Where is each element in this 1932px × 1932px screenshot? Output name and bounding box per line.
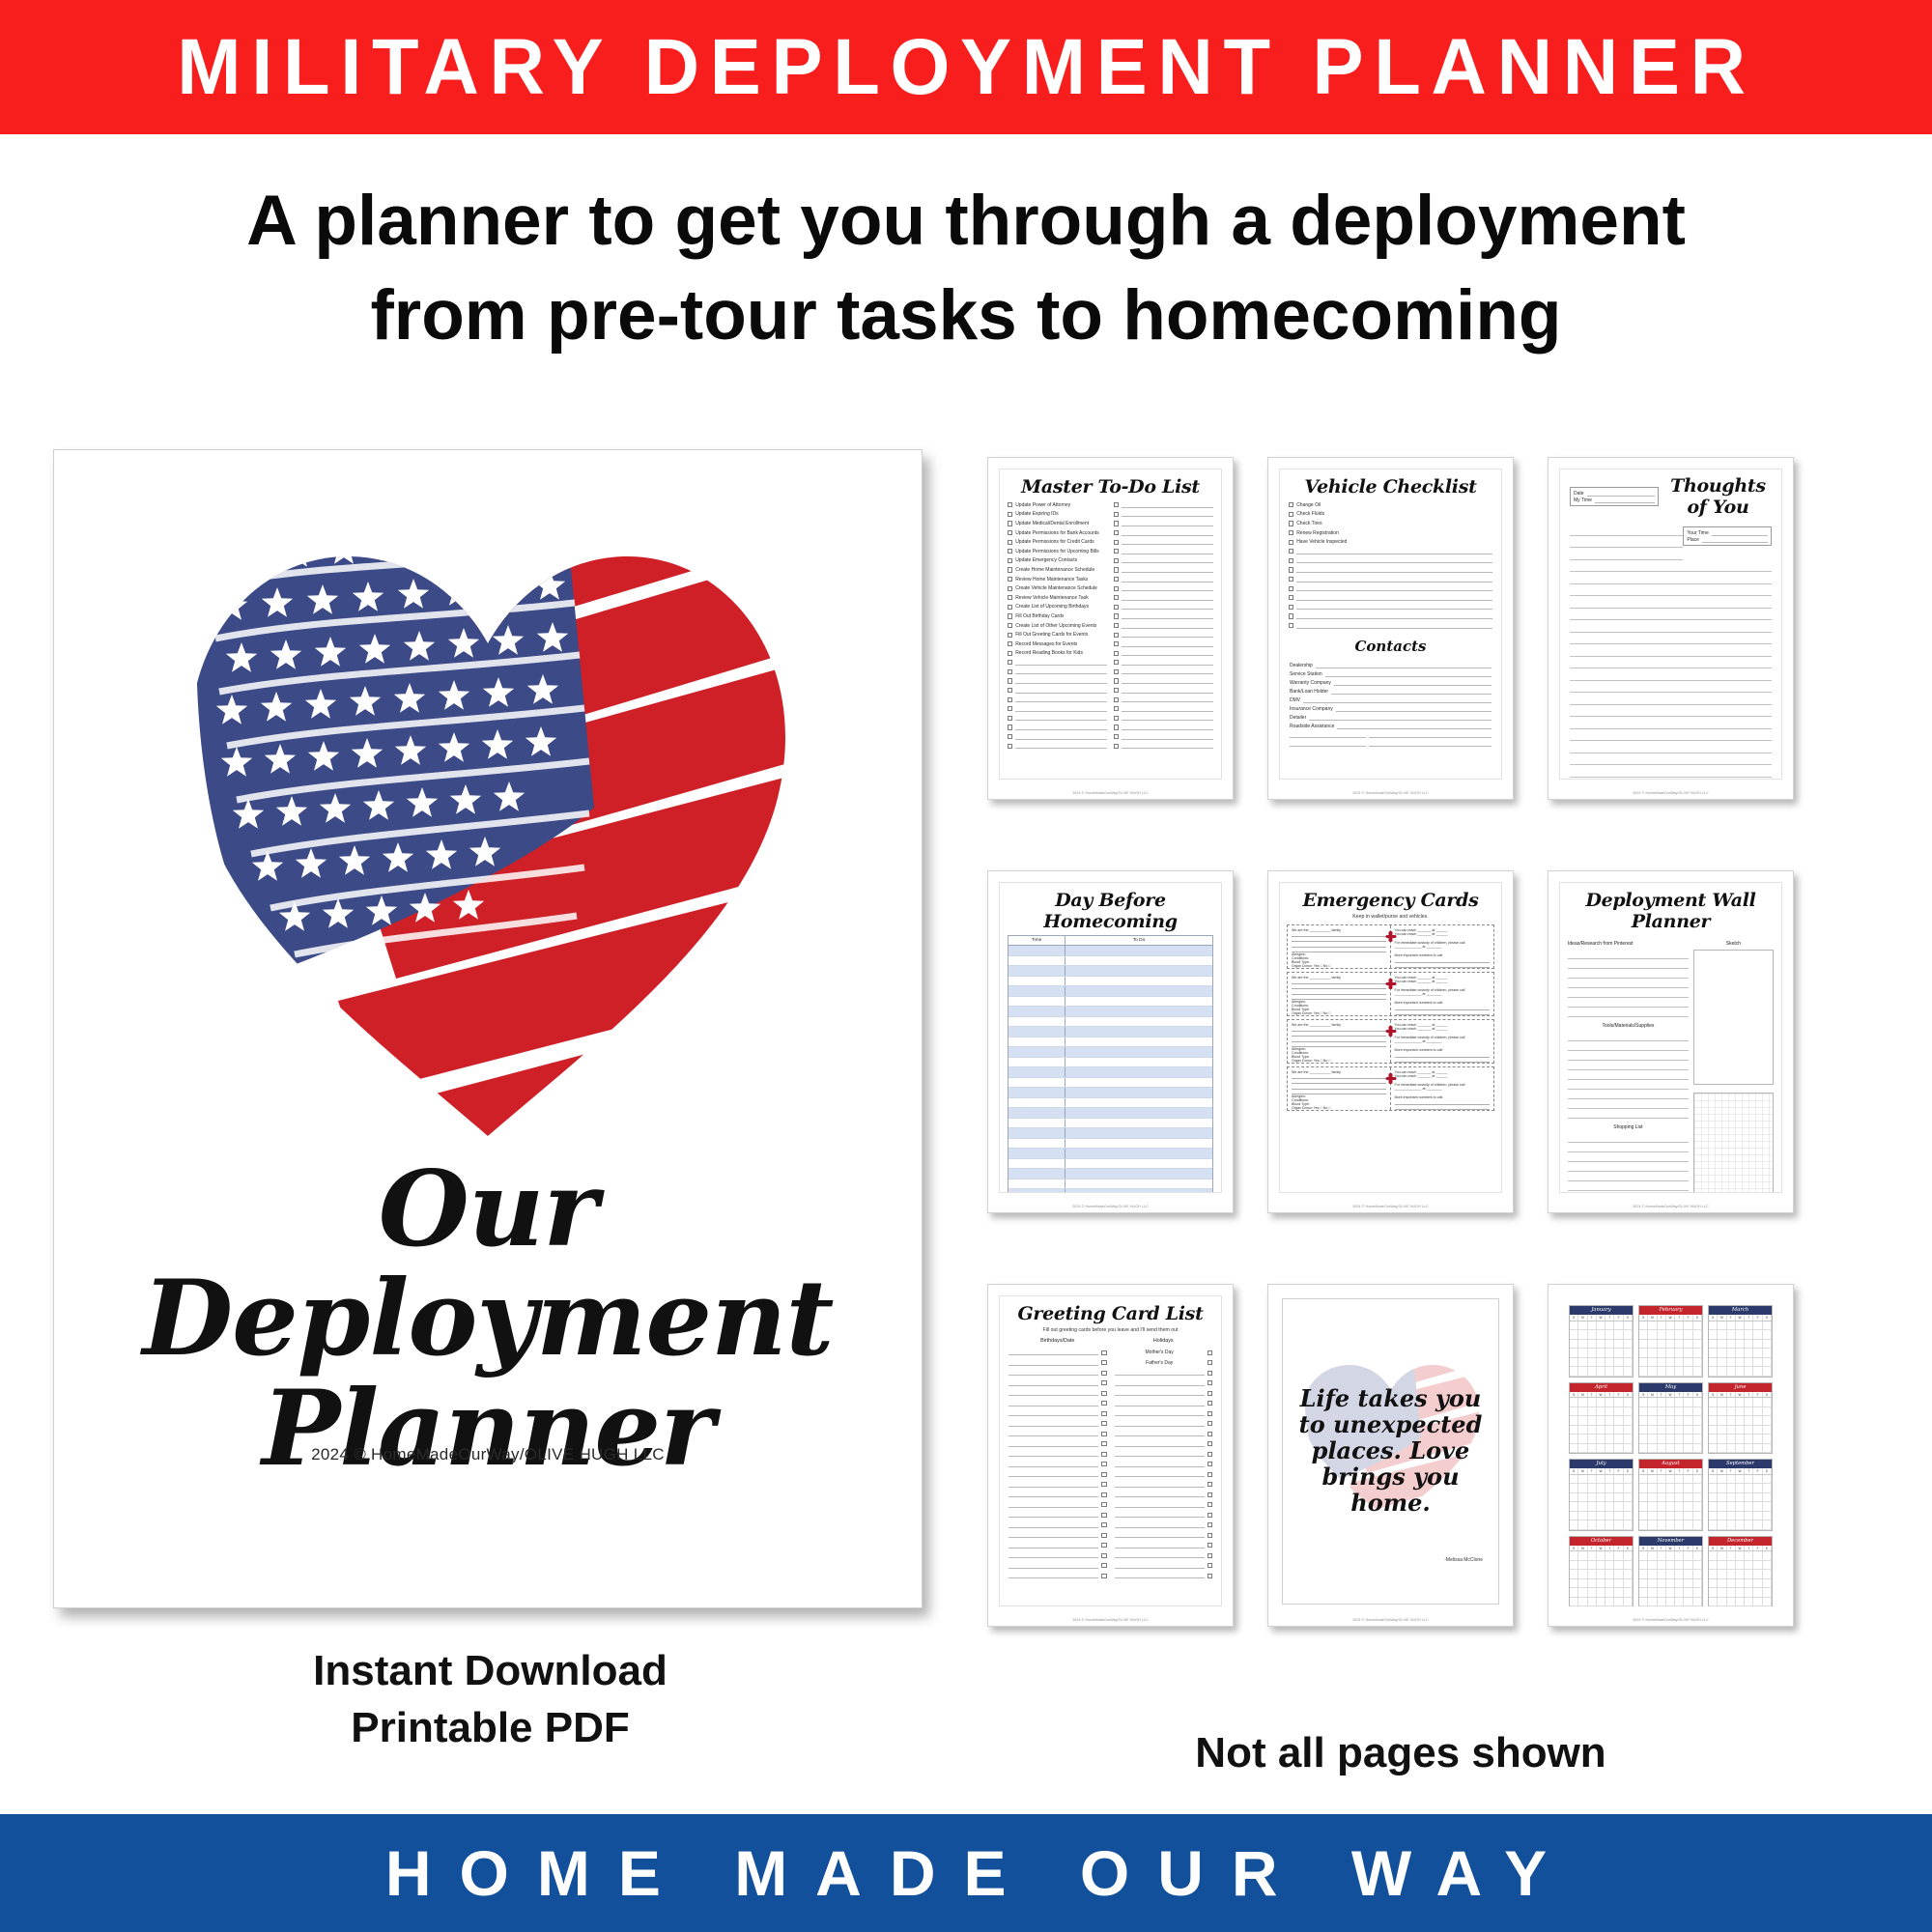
calendar-day-cell[interactable]	[1675, 1367, 1684, 1376]
checkbox[interactable]	[1289, 613, 1293, 618]
calendar-day-cell[interactable]	[1693, 1493, 1702, 1502]
checklist-row[interactable]: Create List of Upcoming Birthdays	[1008, 603, 1107, 612]
calendar-day-cell[interactable]	[1597, 1512, 1605, 1520]
calendar-day-cell[interactable]	[1639, 1426, 1648, 1435]
checkbox[interactable]	[1008, 623, 1012, 628]
calendar-day-cell[interactable]	[1693, 1475, 1702, 1484]
contact-input-line[interactable]	[1309, 715, 1492, 721]
checklist-row[interactable]	[1289, 556, 1492, 566]
calendar-day-cell[interactable]	[1718, 1407, 1726, 1416]
cell-time[interactable]	[1009, 1098, 1065, 1108]
greeting-row[interactable]	[1009, 1500, 1107, 1511]
calendar-day-cell[interactable]	[1684, 1551, 1692, 1560]
blank-line[interactable]	[1009, 1532, 1098, 1538]
thumbnail-thoughts-of-you[interactable]: Date My Time Thoughts of You Your Time P…	[1548, 457, 1794, 800]
calendar-day-cell[interactable]	[1736, 1579, 1745, 1588]
cell-to-do[interactable]	[1065, 1169, 1212, 1179]
checkbox[interactable]	[1114, 595, 1119, 600]
cell-time[interactable]	[1009, 1037, 1065, 1047]
writing-line[interactable]	[1570, 681, 1772, 694]
checkbox[interactable]	[1008, 678, 1012, 683]
blank-line[interactable]	[1009, 1573, 1098, 1578]
greeting-row[interactable]	[1009, 1490, 1107, 1500]
calendar-day-cell[interactable]	[1639, 1484, 1648, 1492]
cell-to-do[interactable]	[1065, 1139, 1212, 1149]
blank-line[interactable]	[1115, 1543, 1205, 1548]
checkbox[interactable]	[1207, 1441, 1212, 1446]
cell-to-do[interactable]	[1065, 956, 1212, 966]
checkbox[interactable]	[1114, 633, 1119, 638]
contact-input-line[interactable]	[1334, 680, 1492, 686]
calendar-day-cell[interactable]	[1588, 1520, 1597, 1529]
calendar-day-cell[interactable]	[1736, 1349, 1745, 1357]
blank-line[interactable]	[1009, 1502, 1098, 1508]
calendar-day-cell[interactable]	[1736, 1570, 1745, 1578]
calendar-day-cell[interactable]	[1570, 1493, 1578, 1502]
calendar-day-cell[interactable]	[1709, 1367, 1718, 1376]
checklist-row[interactable]	[1114, 621, 1213, 631]
blank-line[interactable]	[1009, 1441, 1098, 1447]
calendar-day-cell[interactable]	[1763, 1520, 1772, 1529]
calendar-day-cell[interactable]	[1578, 1416, 1587, 1425]
calendar-day-cell[interactable]	[1658, 1502, 1666, 1511]
checkbox[interactable]	[1207, 1411, 1212, 1416]
calendar-day-cell[interactable]	[1605, 1598, 1614, 1606]
calendar-day-cell[interactable]	[1745, 1444, 1753, 1453]
calendar-day-cell[interactable]	[1675, 1512, 1684, 1520]
calendar-day-cell[interactable]	[1736, 1551, 1745, 1560]
table-row[interactable]	[1009, 997, 1212, 1008]
checkbox[interactable]	[1101, 1502, 1106, 1507]
calendar-day-cell[interactable]	[1570, 1561, 1578, 1570]
calendar-day-cell[interactable]	[1614, 1493, 1623, 1502]
calendar-day-cell[interactable]	[1736, 1520, 1745, 1529]
calendar-day-cell[interactable]	[1763, 1502, 1772, 1511]
calendar-day-cell[interactable]	[1614, 1512, 1623, 1520]
calendar-day-cell[interactable]	[1605, 1570, 1614, 1578]
blank-line[interactable]	[1290, 741, 1366, 747]
table-row[interactable]	[1009, 1017, 1212, 1028]
calendar-day-cell[interactable]	[1745, 1493, 1753, 1502]
calendar-day-cell[interactable]	[1605, 1444, 1614, 1453]
calendar-day-cell[interactable]	[1605, 1407, 1614, 1416]
writing-line[interactable]	[1570, 729, 1772, 742]
calendar-day-cell[interactable]	[1709, 1520, 1718, 1529]
calendar-day-cell[interactable]	[1639, 1551, 1648, 1560]
blank-line[interactable]	[1369, 741, 1492, 747]
cell-to-do[interactable]	[1065, 1027, 1212, 1037]
calendar-day-cell[interactable]	[1658, 1407, 1666, 1416]
checklist-row[interactable]	[1008, 686, 1107, 696]
cell-time[interactable]	[1009, 1119, 1065, 1128]
checkbox[interactable]	[1207, 1421, 1212, 1426]
greeting-row[interactable]	[1009, 1439, 1107, 1450]
writing-line[interactable]	[1570, 620, 1772, 633]
calendar-day-cell[interactable]	[1763, 1340, 1772, 1349]
calendar-day-cell[interactable]	[1666, 1598, 1675, 1606]
calendar-day-cell[interactable]	[1605, 1579, 1614, 1588]
blank-line[interactable]	[1009, 1471, 1098, 1477]
calendar-day-cell[interactable]	[1675, 1588, 1684, 1597]
checkbox[interactable]	[1101, 1411, 1106, 1416]
blank-line[interactable]	[1115, 1380, 1205, 1386]
calendar-day-cell[interactable]	[1763, 1579, 1772, 1588]
calendar-day-cell[interactable]	[1588, 1407, 1597, 1416]
blank-line[interactable]	[1009, 1431, 1098, 1436]
checklist-row[interactable]	[1008, 676, 1107, 686]
calendar-day-cell[interactable]	[1597, 1426, 1605, 1435]
checkbox[interactable]	[1289, 577, 1293, 582]
blank-line[interactable]	[1009, 1360, 1098, 1366]
greeting-row[interactable]	[1115, 1439, 1213, 1450]
calendar-day-cell[interactable]	[1753, 1588, 1762, 1597]
writing-line[interactable]	[1568, 1041, 1689, 1051]
greeting-row[interactable]	[1115, 1469, 1213, 1480]
calendar-day-cell[interactable]	[1624, 1475, 1633, 1484]
checkbox[interactable]	[1101, 1522, 1106, 1527]
cell-to-do[interactable]	[1065, 1037, 1212, 1047]
checkbox[interactable]	[1289, 512, 1293, 517]
greeting-row[interactable]	[1009, 1419, 1107, 1430]
writing-line[interactable]	[1570, 705, 1772, 718]
calendar-day-cell[interactable]	[1684, 1367, 1692, 1376]
checkbox[interactable]	[1101, 1472, 1106, 1477]
calendar-day-cell[interactable]	[1753, 1330, 1762, 1339]
checkbox[interactable]	[1008, 688, 1012, 693]
checkbox[interactable]	[1114, 660, 1119, 665]
greeting-row[interactable]	[1115, 1378, 1213, 1389]
calendar-day-cell[interactable]	[1718, 1358, 1726, 1367]
calendar-day-cell[interactable]	[1763, 1416, 1772, 1425]
calendar-day-cell[interactable]	[1709, 1340, 1718, 1349]
calendar-day-cell[interactable]	[1597, 1416, 1605, 1425]
calendar-day-cell[interactable]	[1578, 1551, 1587, 1560]
calendar-day-cell[interactable]	[1753, 1493, 1762, 1502]
calendar-day-cell[interactable]	[1736, 1444, 1745, 1453]
calendar-day-cell[interactable]	[1588, 1444, 1597, 1453]
writing-line[interactable]	[1568, 1070, 1689, 1080]
calendar-day-cell[interactable]	[1684, 1349, 1692, 1357]
calendar-day-cell[interactable]	[1605, 1520, 1614, 1529]
calendar-day-cell[interactable]	[1570, 1330, 1578, 1339]
calendar-day-cell[interactable]	[1624, 1502, 1633, 1511]
calendar-day-cell[interactable]	[1658, 1598, 1666, 1606]
calendar-day-cell[interactable]	[1658, 1551, 1666, 1560]
calendar-day-cell[interactable]	[1693, 1358, 1702, 1367]
calendar-day-cell[interactable]	[1753, 1551, 1762, 1560]
blank-line[interactable]	[1115, 1390, 1205, 1396]
calendar-day-cell[interactable]	[1736, 1588, 1745, 1597]
calendar-day-cell[interactable]	[1605, 1475, 1614, 1484]
calendar-day-cell[interactable]	[1588, 1475, 1597, 1484]
writing-line[interactable]	[1570, 668, 1772, 681]
writing-line[interactable]	[1568, 1080, 1689, 1090]
table-row[interactable]	[1009, 1139, 1212, 1150]
calendar-day-cell[interactable]	[1624, 1426, 1633, 1435]
greeting-row[interactable]	[1009, 1358, 1107, 1369]
checklist-row[interactable]	[1114, 603, 1213, 612]
calendar-day-cell[interactable]	[1727, 1435, 1736, 1443]
calendar-day-cell[interactable]	[1693, 1444, 1702, 1453]
calendar-day-cell[interactable]	[1597, 1444, 1605, 1453]
calendar-day-cell[interactable]	[1624, 1398, 1633, 1406]
writing-line[interactable]	[1568, 1099, 1689, 1109]
checkbox[interactable]	[1008, 641, 1012, 646]
calendar-day-cell[interactable]	[1578, 1493, 1587, 1502]
calendar-day-cell[interactable]	[1763, 1367, 1772, 1376]
calendar-day-cell[interactable]	[1614, 1349, 1623, 1357]
greeting-row[interactable]	[1115, 1368, 1213, 1378]
blank-line[interactable]	[1009, 1451, 1098, 1457]
checkbox[interactable]	[1101, 1371, 1106, 1376]
calendar-day-cell[interactable]	[1684, 1416, 1692, 1425]
calendar-day-cell[interactable]	[1624, 1484, 1633, 1492]
calendar-month[interactable]: DecemberSMTWTFS	[1708, 1536, 1773, 1607]
calendar-day-cell[interactable]	[1753, 1579, 1762, 1588]
calendar-day-cell[interactable]	[1588, 1561, 1597, 1570]
calendar-day-cell[interactable]	[1588, 1579, 1597, 1588]
calendar-day-cell[interactable]	[1597, 1475, 1605, 1484]
calendar-month[interactable]: MarchSMTWTFS	[1708, 1305, 1773, 1378]
calendar-day-cell[interactable]	[1639, 1367, 1648, 1376]
calendar-day-cell[interactable]	[1763, 1551, 1772, 1560]
calendar-day-cell[interactable]	[1709, 1444, 1718, 1453]
checkbox[interactable]	[1101, 1553, 1106, 1558]
greeting-row[interactable]: Father's Day	[1115, 1358, 1213, 1369]
checklist-row[interactable]	[1114, 583, 1213, 593]
calendar-day-cell[interactable]	[1648, 1321, 1657, 1330]
checkbox[interactable]	[1207, 1380, 1212, 1385]
calendar-day-cell[interactable]	[1684, 1321, 1692, 1330]
calendar-day-cell[interactable]	[1605, 1435, 1614, 1443]
checkbox[interactable]	[1101, 1421, 1106, 1426]
calendar-day-cell[interactable]	[1666, 1570, 1675, 1578]
checkbox[interactable]	[1207, 1563, 1212, 1568]
checkbox[interactable]	[1114, 549, 1119, 554]
calendar-day-cell[interactable]	[1763, 1398, 1772, 1406]
calendar-day-cell[interactable]	[1639, 1358, 1648, 1367]
calendar-day-cell[interactable]	[1597, 1502, 1605, 1511]
checkbox[interactable]	[1289, 605, 1293, 610]
calendar-day-cell[interactable]	[1605, 1349, 1614, 1357]
calendar-day-cell[interactable]	[1578, 1502, 1587, 1511]
calendar-day-cell[interactable]	[1745, 1407, 1753, 1416]
checklist-row[interactable]	[1114, 630, 1213, 639]
calendar-day-cell[interactable]	[1763, 1435, 1772, 1443]
calendar-day-cell[interactable]	[1693, 1321, 1702, 1330]
blank-line[interactable]	[1395, 1058, 1491, 1063]
calendar-day-cell[interactable]	[1745, 1367, 1753, 1376]
calendar-day-cell[interactable]	[1666, 1502, 1675, 1511]
checklist-row[interactable]: Update Permissions for Bank Accounts	[1008, 528, 1107, 538]
checklist-row[interactable]: Create Vehicle Maintenance Schedule	[1008, 583, 1107, 593]
checklist-row[interactable]	[1008, 668, 1107, 677]
calendar-day-cell[interactable]	[1666, 1484, 1675, 1492]
calendar-day-cell[interactable]	[1605, 1321, 1614, 1330]
calendar-day-cell[interactable]	[1753, 1407, 1762, 1416]
calendar-day-cell[interactable]	[1658, 1512, 1666, 1520]
blank-line[interactable]	[1115, 1492, 1205, 1497]
calendar-day-cell[interactable]	[1727, 1398, 1736, 1406]
blank-line[interactable]	[1115, 1421, 1205, 1427]
thumbnail-deployment-wall-planner[interactable]: Deployment Wall Planner Ideas/Research f…	[1548, 870, 1794, 1213]
calendar-day-cell[interactable]	[1675, 1358, 1684, 1367]
calendar-day-cell[interactable]	[1753, 1444, 1762, 1453]
calendar-day-cell[interactable]	[1675, 1321, 1684, 1330]
blank-line[interactable]	[1115, 1563, 1205, 1569]
checkbox[interactable]	[1114, 716, 1119, 721]
calendar-day-cell[interactable]	[1675, 1426, 1684, 1435]
calendar-day-cell[interactable]	[1693, 1426, 1702, 1435]
calendar-day-cell[interactable]	[1736, 1407, 1745, 1416]
cell-to-do[interactable]	[1065, 977, 1212, 986]
table-row[interactable]	[1009, 1047, 1212, 1058]
calendar-day-cell[interactable]	[1718, 1426, 1726, 1435]
calendar-day-cell[interactable]	[1578, 1520, 1587, 1529]
checklist-row[interactable]: Update Power of Attorney	[1008, 500, 1107, 510]
checkbox[interactable]	[1008, 724, 1012, 729]
calendar-day-cell[interactable]	[1648, 1570, 1657, 1578]
calendar-day-cell[interactable]	[1658, 1579, 1666, 1588]
checklist-row[interactable]	[1289, 611, 1492, 621]
calendar-day-cell[interactable]	[1693, 1551, 1702, 1560]
calendar-day-cell[interactable]	[1614, 1502, 1623, 1511]
calendar-day-cell[interactable]	[1605, 1561, 1614, 1570]
calendar-day-cell[interactable]	[1658, 1570, 1666, 1578]
calendar-day-cell[interactable]	[1693, 1520, 1702, 1529]
calendar-day-cell[interactable]	[1736, 1475, 1745, 1484]
calendar-day-cell[interactable]	[1578, 1435, 1587, 1443]
greeting-row[interactable]	[1115, 1449, 1213, 1460]
calendar-day-cell[interactable]	[1666, 1435, 1675, 1443]
calendar-day-cell[interactable]	[1693, 1349, 1702, 1357]
cell-to-do[interactable]	[1065, 1179, 1212, 1189]
checkbox[interactable]	[1114, 651, 1119, 656]
cell-time[interactable]	[1009, 1007, 1065, 1016]
calendar-day-cell[interactable]	[1745, 1520, 1753, 1529]
calendar-day-cell[interactable]	[1727, 1367, 1736, 1376]
calendar-day-cell[interactable]	[1597, 1321, 1605, 1330]
checklist-row[interactable]: Record Messages for Events	[1008, 639, 1107, 649]
calendar-day-cell[interactable]	[1745, 1426, 1753, 1435]
calendar-day-cell[interactable]	[1614, 1475, 1623, 1484]
calendar-day-cell[interactable]	[1578, 1444, 1587, 1453]
calendar-day-cell[interactable]	[1648, 1502, 1657, 1511]
calendar-day-cell[interactable]	[1666, 1520, 1675, 1529]
table-row[interactable]	[1009, 1058, 1212, 1068]
checkbox[interactable]	[1289, 623, 1293, 628]
writing-line[interactable]	[1570, 657, 1772, 669]
calendar-day-cell[interactable]	[1570, 1321, 1578, 1330]
calendar-day-cell[interactable]	[1658, 1358, 1666, 1367]
cell-time[interactable]	[1009, 1149, 1065, 1158]
calendar-day-cell[interactable]	[1693, 1398, 1702, 1406]
calendar-day-cell[interactable]	[1684, 1502, 1692, 1511]
writing-line[interactable]	[1568, 979, 1689, 988]
calendar-day-cell[interactable]	[1745, 1502, 1753, 1511]
greeting-row[interactable]	[1009, 1571, 1107, 1581]
calendar-day-cell[interactable]	[1709, 1407, 1718, 1416]
greeting-row[interactable]	[1115, 1480, 1213, 1491]
calendar-day-cell[interactable]	[1718, 1330, 1726, 1339]
calendar-day-cell[interactable]	[1684, 1570, 1692, 1578]
calendar-day-cell[interactable]	[1614, 1598, 1623, 1606]
checklist-row[interactable]	[1289, 603, 1492, 612]
calendar-day-cell[interactable]	[1605, 1512, 1614, 1520]
calendar-day-cell[interactable]	[1614, 1551, 1623, 1560]
calendar-day-cell[interactable]	[1693, 1367, 1702, 1376]
cell-time[interactable]	[1009, 1108, 1065, 1118]
calendar-day-cell[interactable]	[1624, 1570, 1633, 1578]
calendar-day-cell[interactable]	[1709, 1358, 1718, 1367]
calendar-day-cell[interactable]	[1675, 1407, 1684, 1416]
calendar-day-cell[interactable]	[1718, 1598, 1726, 1606]
greeting-row[interactable]	[1115, 1550, 1213, 1561]
calendar-day-cell[interactable]	[1588, 1512, 1597, 1520]
calendar-day-cell[interactable]	[1763, 1330, 1772, 1339]
checkbox[interactable]	[1289, 567, 1293, 572]
greeting-row[interactable]	[1115, 1500, 1213, 1511]
calendar-day-cell[interactable]	[1745, 1512, 1753, 1520]
calendar-day-cell[interactable]	[1693, 1330, 1702, 1339]
calendar-day-cell[interactable]	[1639, 1502, 1648, 1511]
calendar-day-cell[interactable]	[1578, 1367, 1587, 1376]
calendar-day-cell[interactable]	[1570, 1484, 1578, 1492]
greeting-row[interactable]	[1009, 1561, 1107, 1572]
greeting-row[interactable]	[1009, 1449, 1107, 1460]
checklist-row[interactable]	[1008, 723, 1107, 732]
blank-line[interactable]	[1009, 1370, 1098, 1376]
calendar-day-cell[interactable]	[1605, 1358, 1614, 1367]
checklist-row[interactable]	[1114, 519, 1213, 528]
calendar-day-cell[interactable]	[1614, 1484, 1623, 1492]
calendar-day-cell[interactable]	[1597, 1551, 1605, 1560]
cell-to-do[interactable]	[1065, 1149, 1212, 1158]
checkbox[interactable]	[1008, 540, 1012, 545]
calendar-day-cell[interactable]	[1693, 1561, 1702, 1570]
calendar-day-cell[interactable]	[1578, 1321, 1587, 1330]
blank-line[interactable]	[1009, 1552, 1098, 1558]
contact-field[interactable]: DMV	[1280, 695, 1501, 703]
calendar-day-cell[interactable]	[1639, 1349, 1648, 1357]
calendar-day-cell[interactable]	[1614, 1367, 1623, 1376]
writing-line[interactable]	[1570, 753, 1772, 766]
calendar-day-cell[interactable]	[1753, 1321, 1762, 1330]
calendar-day-cell[interactable]	[1763, 1358, 1772, 1367]
checkbox[interactable]	[1008, 530, 1012, 535]
blank-line[interactable]	[1009, 1390, 1098, 1396]
checklist-row[interactable]: Record Reading Books for Kids	[1008, 649, 1107, 659]
checkbox[interactable]	[1101, 1574, 1106, 1578]
writing-line[interactable]	[1570, 778, 1772, 781]
greeting-row[interactable]	[1115, 1429, 1213, 1439]
checklist-row[interactable]: Update Permissions for Credit Cards	[1008, 537, 1107, 547]
calendar-day-cell[interactable]	[1614, 1416, 1623, 1425]
calendar-day-cell[interactable]	[1727, 1330, 1736, 1339]
calendar-day-cell[interactable]	[1709, 1512, 1718, 1520]
cell-to-do[interactable]	[1065, 1088, 1212, 1097]
calendar-day-cell[interactable]	[1736, 1367, 1745, 1376]
blank-line[interactable]	[1009, 1492, 1098, 1497]
calendar-day-cell[interactable]	[1648, 1426, 1657, 1435]
writing-line[interactable]	[1568, 969, 1689, 979]
checkbox[interactable]	[1114, 613, 1119, 618]
checkbox[interactable]	[1114, 697, 1119, 702]
checkbox[interactable]	[1207, 1350, 1212, 1355]
checklist-row[interactable]	[1289, 593, 1492, 603]
calendar-day-cell[interactable]	[1639, 1475, 1648, 1484]
blank-line[interactable]	[1115, 1502, 1205, 1508]
